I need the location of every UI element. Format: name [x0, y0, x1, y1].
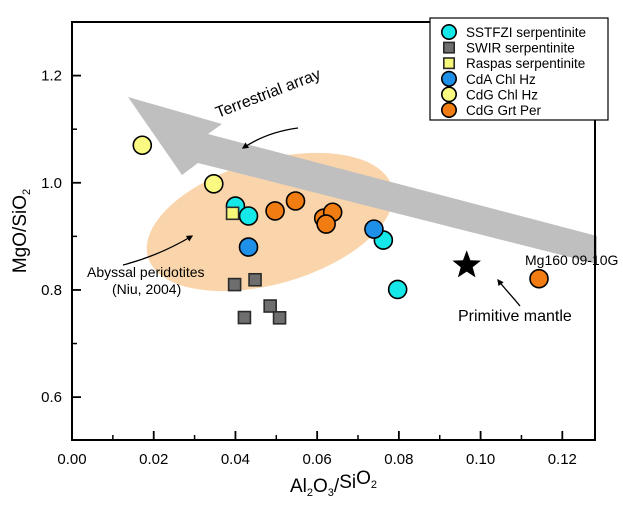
y-axis-label: MgO/SiO2 — [10, 189, 33, 273]
x-tick-label: 0.02 — [139, 451, 168, 468]
y-tick-label: 1.2 — [41, 68, 62, 85]
legend-label: CdG Grt Per — [466, 103, 542, 118]
legend-label: CdA Chl Hz — [466, 72, 536, 87]
data-point — [205, 175, 223, 193]
data-point — [365, 220, 383, 238]
data-point — [133, 136, 151, 154]
x-tick-label: 0.10 — [466, 451, 495, 468]
legend-marker — [442, 25, 456, 39]
figure-container: Terrestrial arrayAbyssal peridotites(Niu… — [0, 0, 623, 519]
data-point — [274, 312, 286, 324]
series-2 — [227, 207, 239, 219]
data-point — [287, 192, 305, 210]
data-point — [264, 300, 276, 312]
data-point — [317, 215, 335, 233]
legend-label: SWIR serpentinite — [466, 41, 575, 56]
data-point — [389, 280, 407, 298]
data-point — [238, 312, 250, 324]
y-tick-label: 0.8 — [41, 282, 62, 299]
x-tick-label: 0.06 — [303, 451, 332, 468]
x-tick-label: 0.12 — [548, 451, 577, 468]
x-tick-label: 0.08 — [384, 451, 413, 468]
scatter-plot: Terrestrial arrayAbyssal peridotites(Niu… — [0, 0, 623, 519]
data-point — [229, 279, 241, 291]
legend-marker — [442, 87, 456, 101]
x-tick-label: 0.04 — [221, 451, 250, 468]
data-point — [227, 207, 239, 219]
legend-marker — [442, 72, 456, 86]
data-point — [530, 270, 548, 288]
legend[interactable]: SSTFZI serpentiniteSWIR serpentiniteRasp… — [430, 18, 608, 120]
y-tick-label: 0.6 — [41, 389, 62, 406]
sample-label: Mg160 09-10G — [525, 252, 618, 268]
data-point — [240, 238, 258, 256]
abyssal-peridotites-label-line2: (Niu, 2004) — [112, 281, 181, 297]
data-point — [249, 274, 261, 286]
abyssal-peridotites-label-line1: Abyssal peridotites — [87, 264, 205, 280]
data-point — [266, 202, 284, 220]
data-point — [240, 207, 258, 225]
legend-marker — [444, 42, 454, 52]
legend-label: CdG Chl Hz — [466, 87, 538, 102]
legend-item-2[interactable]: Raspas serpentinite — [444, 56, 586, 71]
x-tick-label: 0.00 — [57, 451, 86, 468]
primitive-mantle-label: Primitive mantle — [458, 308, 572, 325]
legend-label: Raspas serpentinite — [466, 56, 585, 71]
legend-label: SSTFZI serpentinite — [466, 25, 586, 40]
legend-marker — [444, 58, 454, 68]
legend-marker — [442, 103, 456, 117]
y-tick-label: 1.0 — [41, 175, 62, 192]
